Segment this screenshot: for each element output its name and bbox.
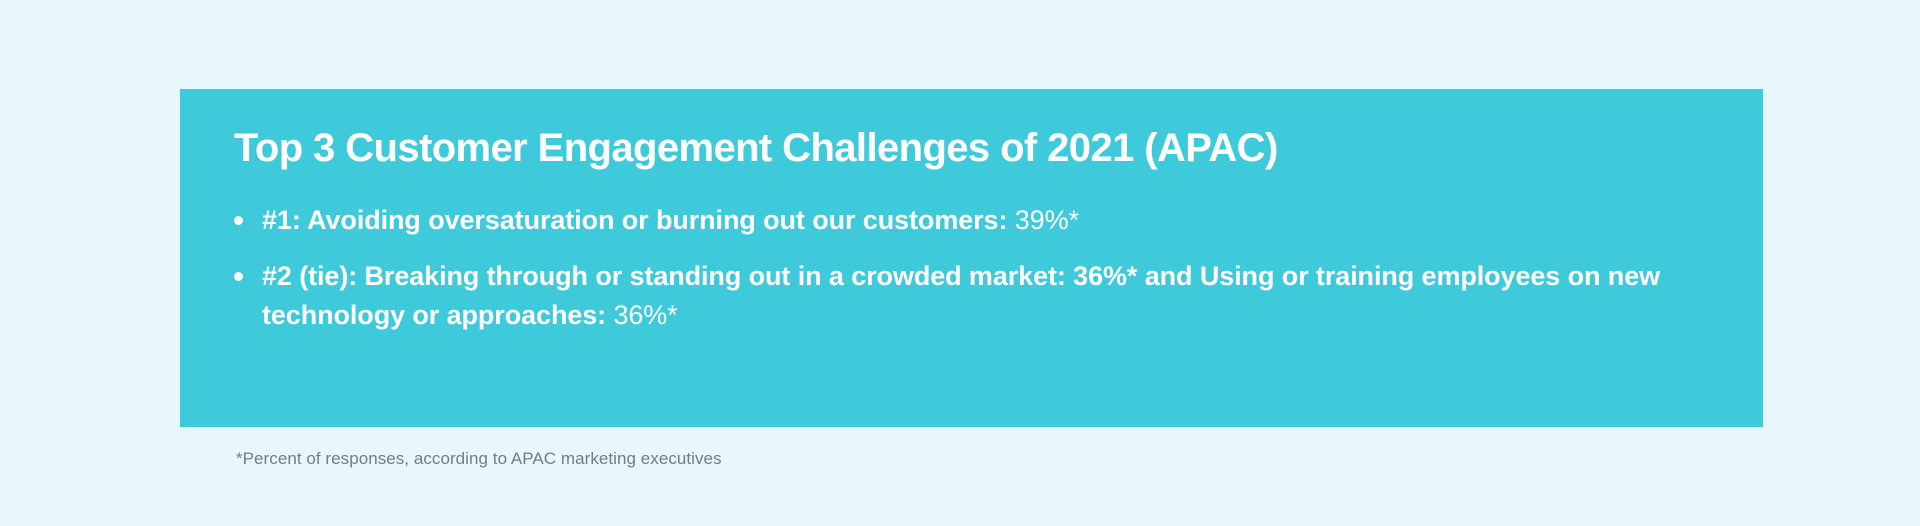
challenge-stat: 36%* — [613, 300, 677, 330]
list-item: #2 (tie): Breaking through or standing o… — [234, 257, 1709, 334]
challenge-label: #2 (tie): Breaking through or standing o… — [262, 261, 1660, 329]
page-title: Top 3 Customer Engagement Challenges of … — [234, 125, 1709, 171]
infographic-page: Top 3 Customer Engagement Challenges of … — [0, 0, 1920, 526]
challenge-stat: 39%* — [1015, 205, 1079, 235]
bullet-dot-icon — [234, 216, 243, 225]
list-item: #1: Avoiding oversaturation or burning o… — [234, 201, 1709, 239]
challenges-list: #1: Avoiding oversaturation or burning o… — [234, 201, 1709, 334]
challenge-label: #1: Avoiding oversaturation or burning o… — [262, 205, 1015, 235]
footnote: *Percent of responses, according to APAC… — [236, 448, 722, 470]
bullet-dot-icon — [234, 272, 243, 281]
highlight-card: Top 3 Customer Engagement Challenges of … — [180, 89, 1763, 427]
